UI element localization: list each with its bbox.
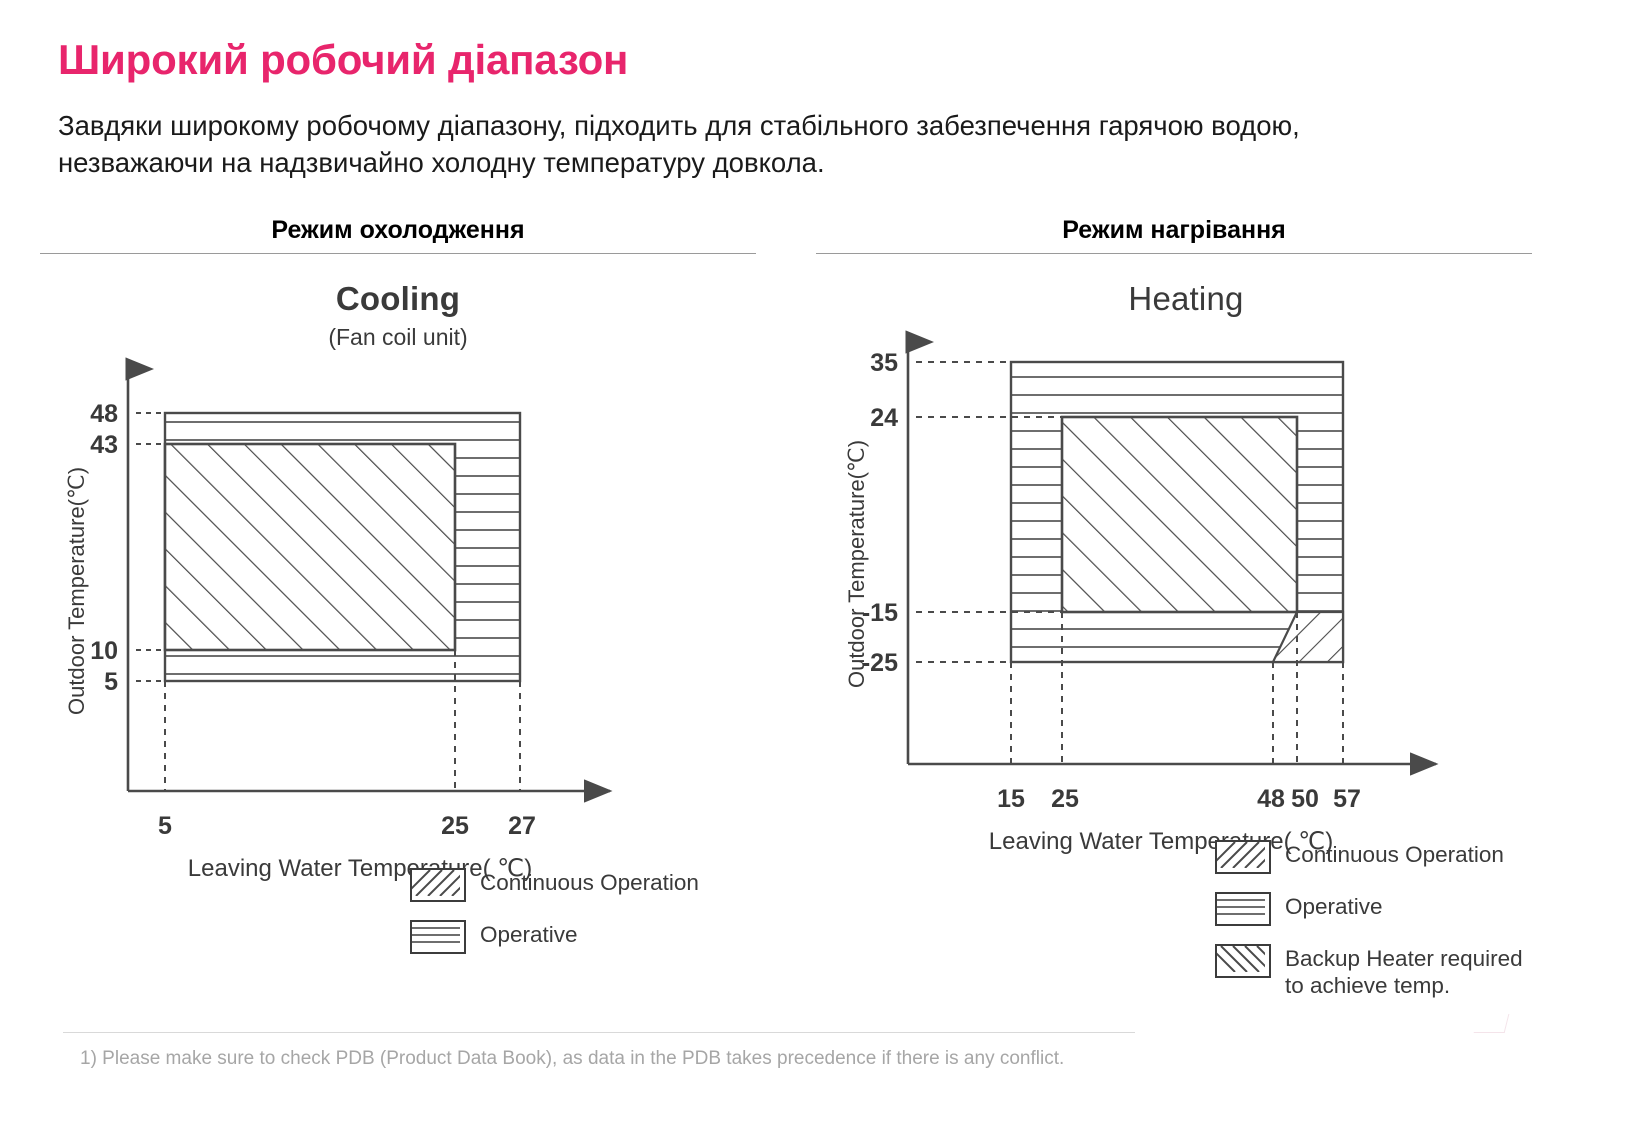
legend-label-continuous-heating: Continuous Operation (1285, 840, 1504, 869)
diagonal-hatch-icon (412, 870, 460, 896)
section-label-cooling: Режим охолодження (40, 216, 756, 245)
footer-divider (63, 1032, 1135, 1033)
x-tick-label-15: 15 (997, 785, 1025, 813)
diagonal-hatch-icon (1217, 842, 1265, 868)
section-divider-cooling (40, 253, 756, 254)
slide-root: Широкий робочий діапазон Завдяки широком… (0, 0, 1625, 1125)
x-tick-label-25: 25 (441, 812, 469, 840)
chart-subtitle-cooling: (Fan coil unit) (40, 324, 756, 351)
legend-item-backup-heater-heating: Backup Heater required to achieve temp. (1215, 944, 1523, 999)
plot-svg-cooling: 48 43 10 5 5 25 27 Leaving Water Tempera… (40, 351, 660, 911)
plot-cooling: 48 43 10 5 5 25 27 Leaving Water Tempera… (40, 351, 756, 911)
corner-watermark (1474, 1014, 1510, 1033)
y-tick-label-5: 5 (104, 668, 118, 696)
chart-title-heating: Heating (816, 280, 1556, 318)
x-tick-label-5: 5 (158, 812, 172, 840)
footer-note: 1) Please make sure to check PDB (Produc… (80, 1048, 1064, 1070)
x-tick-label-48: 48 (1257, 785, 1285, 813)
swatch-diagonal-hatch-icon (1215, 840, 1271, 874)
legend-label-continuous-cooling: Continuous Operation (480, 868, 699, 897)
plot-heating: 35 24 -15 -25 15 25 48 50 57 Leaving Wat… (816, 324, 1556, 884)
x-tick-label-27: 27 (508, 812, 536, 840)
y-axis-title-heating: Outdoor Temperature(℃) (844, 440, 869, 688)
swatch-horizontal-hatch-icon (1215, 892, 1271, 926)
section-heading-heating: Режим нагрівання (816, 216, 1532, 254)
legend-item-continuous-heating: Continuous Operation (1215, 840, 1523, 874)
subtitle-line-2: незважаючи на надзвичайно холодну темпер… (58, 145, 1528, 182)
section-divider-heating (816, 253, 1532, 254)
legend-item-continuous-cooling: Continuous Operation (410, 868, 699, 902)
legend-cooling: Continuous Operation Operative (410, 868, 699, 972)
legend-label-backup-heater-heating: Backup Heater required to achieve temp. (1285, 944, 1523, 999)
legend-heating: Continuous Operation Operative (1215, 840, 1523, 1017)
reverse-diagonal-hatch-icon (1217, 946, 1265, 972)
region-continuous-cooling (165, 444, 455, 650)
region-continuous-heating (1062, 417, 1297, 612)
page-title: Широкий робочий діапазон (58, 36, 628, 84)
swatch-reverse-diagonal-hatch-icon (1215, 944, 1271, 978)
horizontal-hatch-icon (1217, 894, 1265, 920)
section-label-heating: Режим нагрівання (816, 216, 1532, 245)
y-tick-label-24: 24 (870, 404, 898, 432)
x-tick-label-25: 25 (1051, 785, 1079, 813)
legend-item-operative-heating: Operative (1215, 892, 1523, 926)
legend-item-operative-cooling: Operative (410, 920, 699, 954)
swatch-horizontal-hatch-icon (410, 920, 466, 954)
horizontal-hatch-icon (412, 922, 460, 948)
chart-title-cooling: Cooling (40, 280, 756, 318)
y-tick-label-43: 43 (90, 431, 118, 459)
section-heading-cooling: Режим охолодження (40, 216, 756, 254)
x-tick-label-57: 57 (1333, 785, 1361, 813)
page-subtitle: Завдяки широкому робочому діапазону, під… (58, 108, 1528, 181)
y-axis-title-cooling: Outdoor Temperature(℃) (64, 467, 89, 715)
x-tick-label-50: 50 (1291, 785, 1319, 813)
legend-label-operative-cooling: Operative (480, 920, 578, 949)
plot-svg-heating: 35 24 -15 -25 15 25 48 50 57 Leaving Wat… (816, 324, 1476, 884)
y-tick-label-35: 35 (870, 349, 898, 377)
y-tick-label-10: 10 (90, 637, 118, 665)
subtitle-line-1: Завдяки широкому робочому діапазону, під… (58, 108, 1528, 145)
swatch-diagonal-hatch-icon (410, 868, 466, 902)
legend-label-operative-heating: Operative (1285, 892, 1383, 921)
y-tick-label-48: 48 (90, 400, 118, 428)
